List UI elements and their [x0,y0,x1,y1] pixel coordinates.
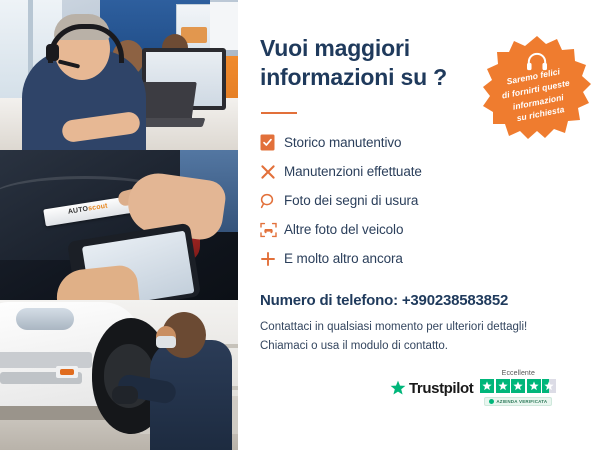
feature-item-altre-foto-veicolo: Altre foto del veicolo [260,215,580,244]
panel-heading: Vuoi maggiori informazioni su ? [260,34,470,93]
trustpilot-widget[interactable]: Trustpilot Eccellente [390,370,556,406]
headset-earcup-shape [46,44,59,61]
photo-column: AUTOscout [0,0,238,450]
lower-hand-shape [54,264,140,300]
photo-mechanic-servicing-white-car-wheel [0,300,238,450]
photo-call-center-agents-with-headsets [0,0,238,150]
feature-label: Foto dei segni di usura [284,193,418,208]
heading-line-2: informazioni su ? [260,63,470,92]
grille-shape [0,352,92,368]
trustpilot-rating: Eccellente [480,370,556,406]
trustpilot-rating-label: Eccellente [502,370,535,377]
trustpilot-star-icon [390,380,406,396]
car-scan-icon [260,219,284,241]
feature-item-manutenzioni-effettuate: Manutenzioni effettuate [260,157,580,186]
phone-label: Numero di telefono: [260,292,398,309]
star-filled [527,379,541,393]
trustpilot-stars [480,379,556,393]
verified-company-label: AZIENDA VERIFICATA [496,399,547,404]
contact-subtext-line-2: Chiamaci o usa il modulo di contatto. [260,337,580,356]
star-filled [511,379,525,393]
trustpilot-name: Trustpilot [409,380,473,397]
crossed-tools-icon [260,161,284,183]
feature-label: Storico manutentivo [284,135,401,150]
contact-subtext-line-1: Contattaci in qualsiasi momento per ulte… [260,318,580,337]
headlight-shape [16,308,74,330]
verified-check-icon [489,399,494,404]
trustpilot-logo: Trustpilot [390,380,473,397]
feature-list: Storico manutentivo Manutenzioni effettu… [260,128,580,273]
phone-number[interactable]: +390238583852 [402,292,508,309]
info-panel: Vuoi maggiori informazioni su ? Saremo f… [238,0,600,450]
feature-label: Manutenzioni effettuate [284,164,422,179]
mechanic-glove-shape [112,386,138,404]
promo-card: AUTOscout [0,0,600,450]
document-check-icon [260,132,284,154]
star-filled [480,379,494,393]
phone-line: Numero di telefono: +390238583852 [260,292,508,309]
feature-item-foto-segni-usura: Foto dei segni di usura [260,186,580,215]
star-filled [496,379,510,393]
star-half [542,379,556,393]
face-mask-shape [156,336,176,348]
heading-underline [261,112,297,114]
heading-line-1: Vuoi maggiori [260,34,470,63]
feature-item-molto-altro: E molto altro ancora [260,244,580,273]
feature-item-storico-manutentivo: Storico manutentivo [260,128,580,157]
photo-technician-measuring-car-body-with-tablet: AUTOscout [0,150,238,300]
magnifier-icon [260,190,284,212]
plus-icon [260,248,284,270]
uniform-logo-shape [56,366,78,378]
verified-company-badge: AZIENDA VERIFICATA [484,397,552,406]
feature-label: Altre foto del veicolo [284,222,403,237]
wall-paper-shape [210,2,238,50]
feature-label: E molto altro ancora [284,251,403,266]
contact-subtext: Contattaci in qualsiasi momento per ulte… [260,318,580,356]
